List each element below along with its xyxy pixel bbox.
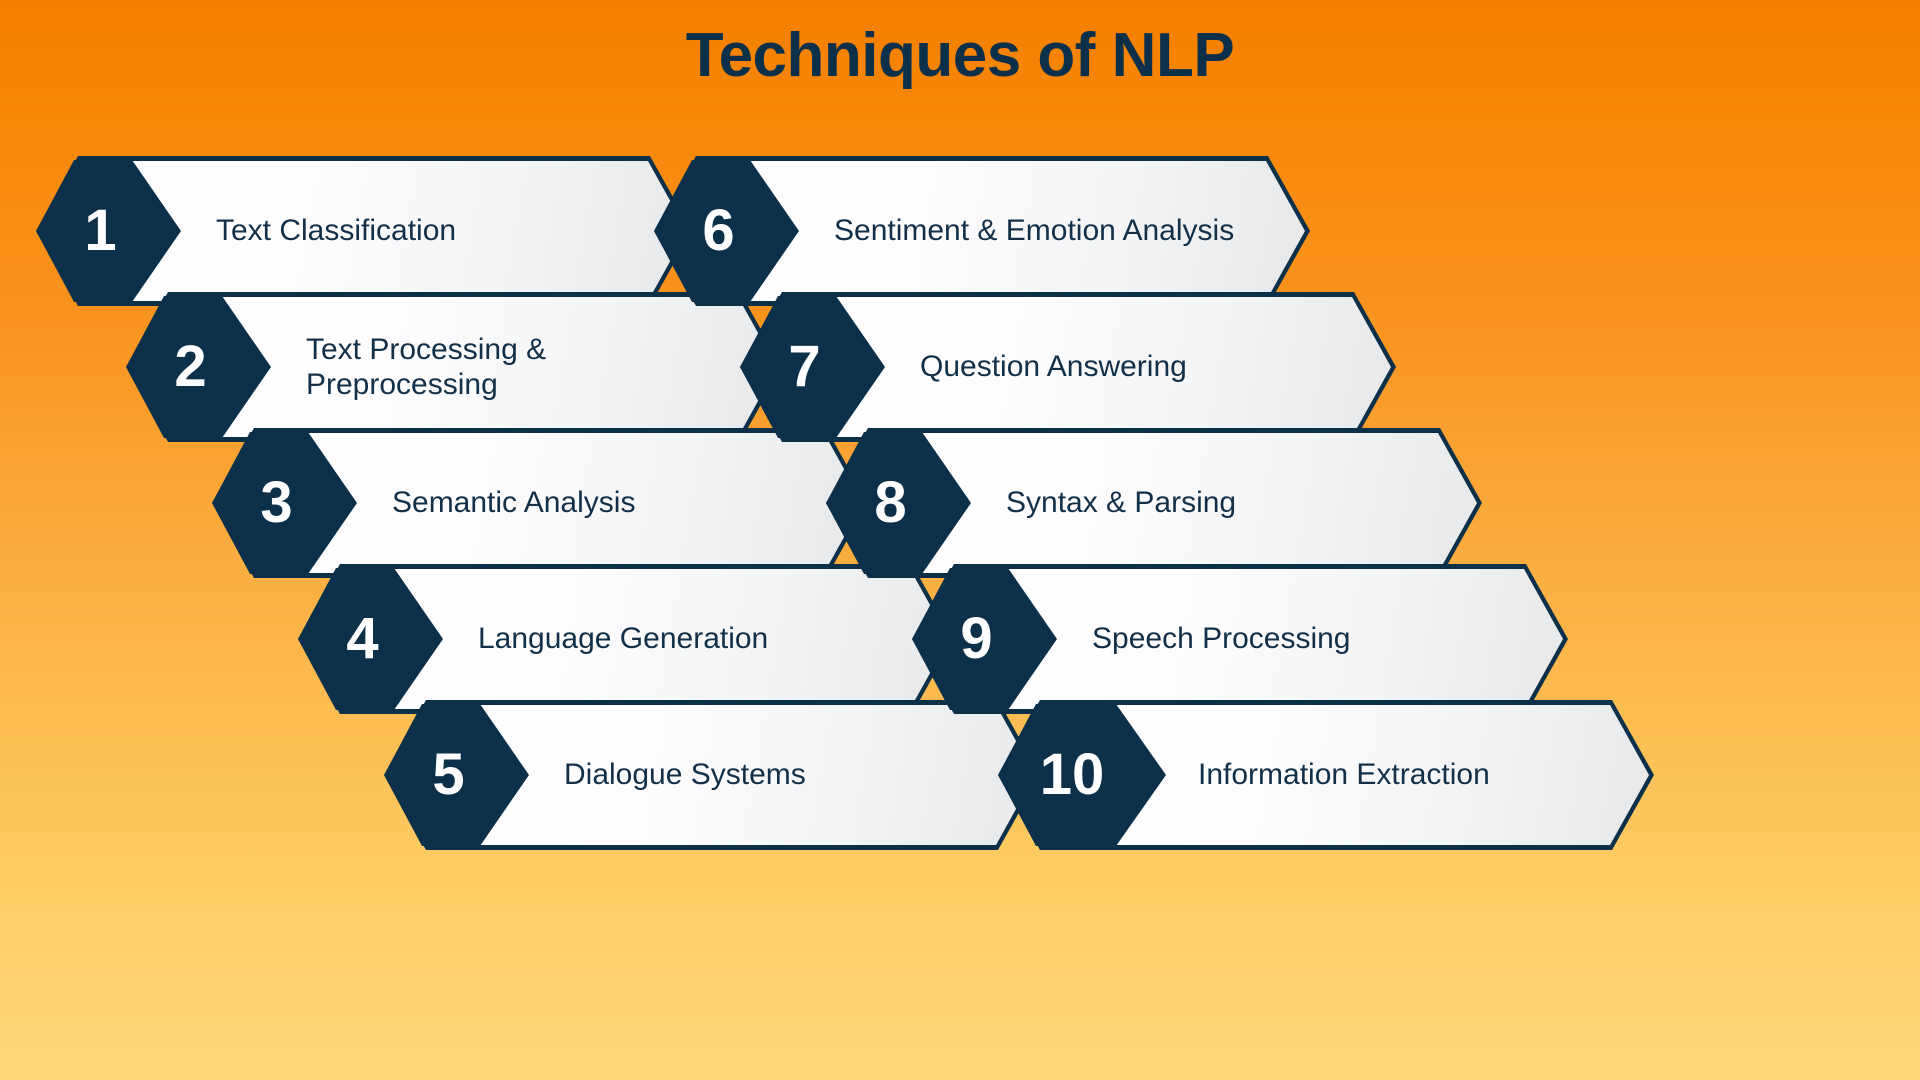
technique-row[interactable]: 9Speech Processing bbox=[912, 564, 1568, 714]
technique-row[interactable]: 5Dialogue Systems bbox=[384, 700, 1040, 850]
technique-row[interactable]: 2Text Processing & Preprocessing bbox=[126, 292, 782, 442]
step-number: 1 bbox=[84, 202, 116, 260]
technique-row[interactable]: 8Syntax & Parsing bbox=[826, 428, 1482, 578]
step-number: 7 bbox=[788, 338, 820, 396]
step-number: 2 bbox=[174, 338, 206, 396]
step-number: 9 bbox=[960, 610, 992, 668]
step-number: 5 bbox=[432, 746, 464, 804]
step-number: 10 bbox=[1040, 746, 1105, 804]
technique-row[interactable]: 3Semantic Analysis bbox=[212, 428, 868, 578]
technique-row[interactable]: 7Question Answering bbox=[740, 292, 1396, 442]
technique-row[interactable]: 10Information Extraction bbox=[998, 700, 1654, 850]
infographic-canvas: Techniques of NLP 1Text Classification2T… bbox=[0, 0, 1920, 1080]
technique-list: 1Text Classification2Text Processing & P… bbox=[0, 0, 1920, 1080]
step-number: 6 bbox=[702, 202, 734, 260]
step-number: 8 bbox=[874, 474, 906, 532]
step-number: 4 bbox=[346, 610, 378, 668]
step-number: 3 bbox=[260, 474, 292, 532]
technique-row[interactable]: 1Text Classification bbox=[36, 156, 692, 306]
technique-row[interactable]: 6Sentiment & Emotion Analysis bbox=[654, 156, 1310, 306]
technique-row[interactable]: 4Language Generation bbox=[298, 564, 954, 714]
